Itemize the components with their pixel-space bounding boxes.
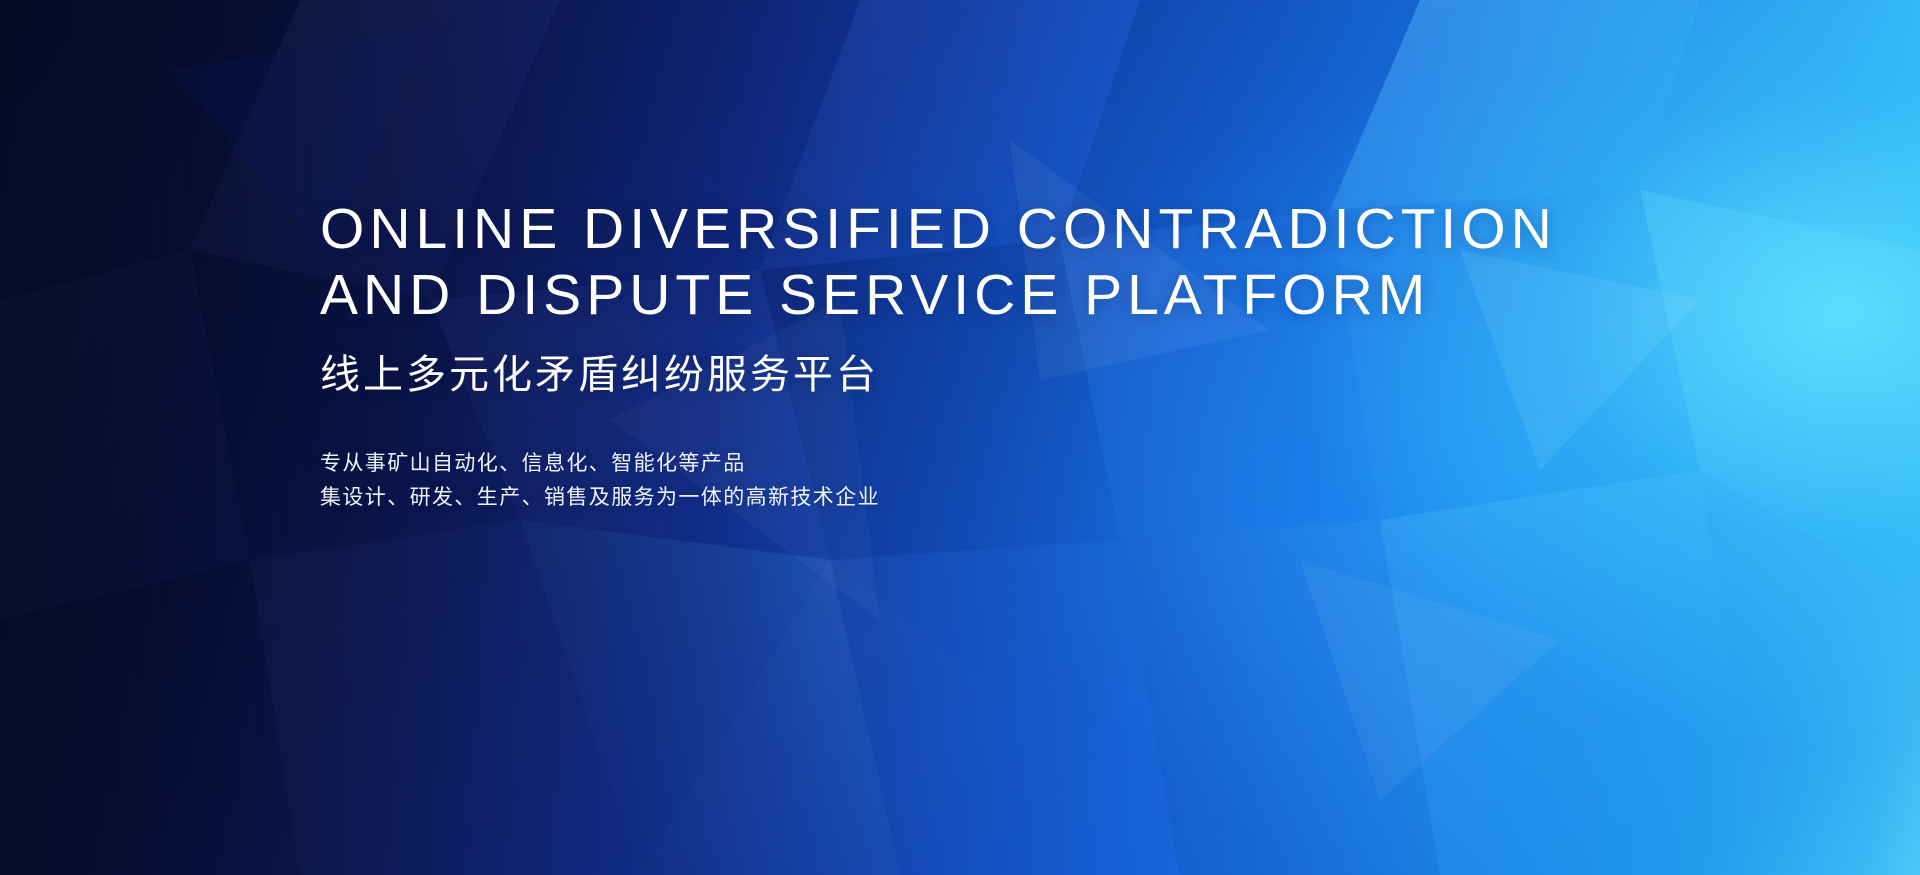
- banner-headline: ONLINE DIVERSIFIED CONTRADICTION AND DIS…: [320, 196, 1720, 328]
- description-line-1: 专从事矿山自动化、信息化、智能化等产品: [320, 447, 1720, 481]
- banner-description: 专从事矿山自动化、信息化、智能化等产品 集设计、研发、生产、销售及服务为一体的高…: [320, 447, 1720, 515]
- hero-banner: ONLINE DIVERSIFIED CONTRADICTION AND DIS…: [0, 0, 1920, 875]
- banner-subtitle: 线上多元化矛盾纠纷服务平台: [320, 350, 1720, 400]
- banner-content: ONLINE DIVERSIFIED CONTRADICTION AND DIS…: [320, 196, 1720, 515]
- description-line-2: 集设计、研发、生产、销售及服务为一体的高新技术企业: [320, 481, 1720, 515]
